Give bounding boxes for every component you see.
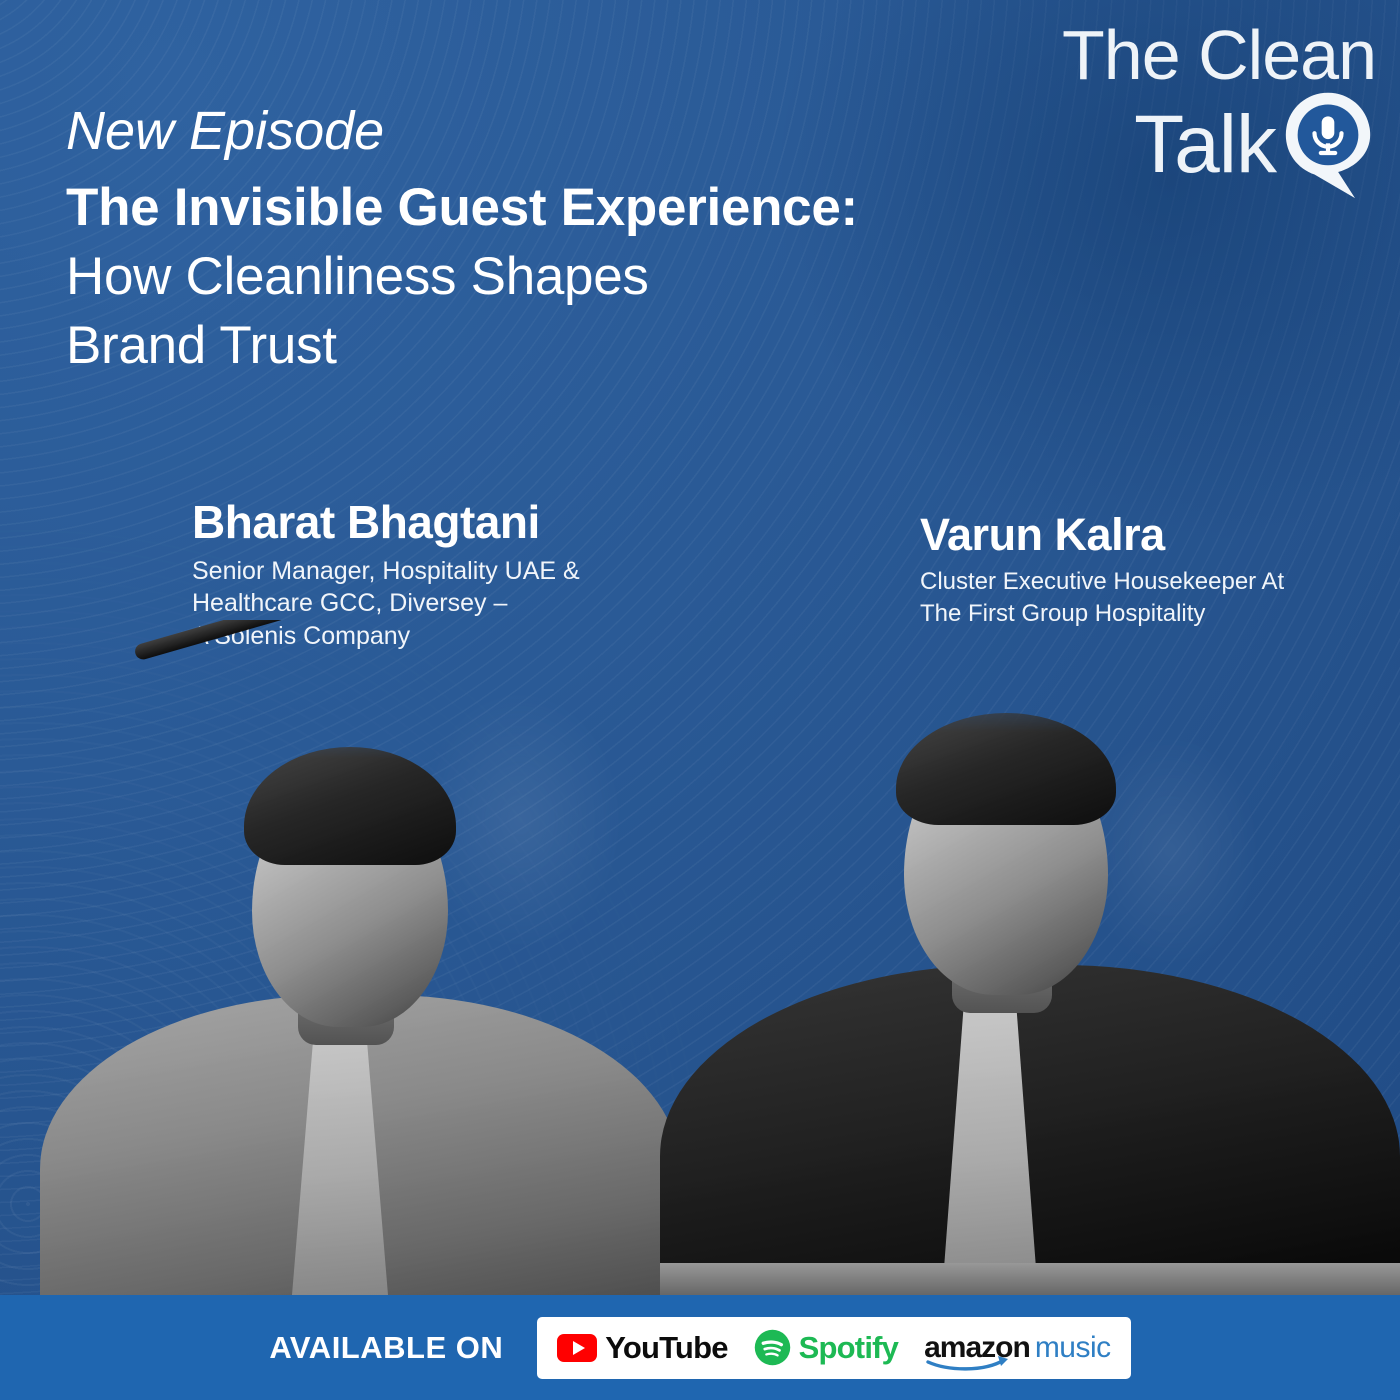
available-on-bar: AVAILABLE ON YouTube Spotify amazon — [0, 1295, 1400, 1400]
brand-logo: The Clean Talk — [1052, 22, 1382, 238]
speaker-photo-bharat — [40, 685, 680, 1295]
podcast-promo-poster: The Clean Talk New Episode The Invisib — [0, 0, 1400, 1400]
speaker-photo-varun: SHURE — [660, 655, 1400, 1295]
speaker-photo-band: SHURE — [0, 620, 1400, 1295]
headline-block: New Episode The Invisible Guest Experien… — [66, 104, 966, 381]
episode-title-line-2: How Cleanliness Shapes — [66, 243, 966, 312]
speech-bubble-icon — [1274, 91, 1382, 199]
logo-line-one: The Clean — [1052, 22, 1382, 89]
available-on-label: AVAILABLE ON — [269, 1330, 503, 1366]
speaker-role-line-1: Senior Manager, Hospitality UAE & — [192, 555, 662, 588]
platform-amazon-music[interactable]: amazon music — [924, 1331, 1111, 1365]
speaker-role-line-2: Healthcare GCC, Diversey – — [192, 587, 662, 620]
episode-eyebrow: New Episode — [66, 104, 966, 158]
speaker-role-line-1: Cluster Executive Housekeeper At — [920, 566, 1370, 597]
logo-line-two: Talk — [1134, 106, 1276, 184]
episode-title-line-1: The Invisible Guest Experience: — [66, 174, 966, 243]
platform-logo-group: YouTube Spotify amazon music — [537, 1317, 1130, 1379]
youtube-icon — [557, 1334, 597, 1362]
studio-table — [660, 1263, 1400, 1295]
amazon-swoosh-icon — [926, 1355, 1018, 1371]
youtube-label: YouTube — [605, 1330, 727, 1366]
spotify-icon — [754, 1329, 791, 1366]
speaker-name: Varun Kalra — [920, 510, 1370, 560]
spotify-label: Spotify — [799, 1330, 898, 1366]
episode-title-line-3: Brand Trust — [66, 312, 966, 381]
amazon-music-label: music — [1035, 1331, 1111, 1365]
platform-spotify[interactable]: Spotify — [754, 1329, 898, 1366]
speaker-name: Bharat Bhagtani — [192, 497, 662, 549]
speaker-credit-varun: Varun Kalra Cluster Executive Housekeepe… — [920, 510, 1370, 629]
platform-youtube[interactable]: YouTube — [557, 1330, 727, 1366]
